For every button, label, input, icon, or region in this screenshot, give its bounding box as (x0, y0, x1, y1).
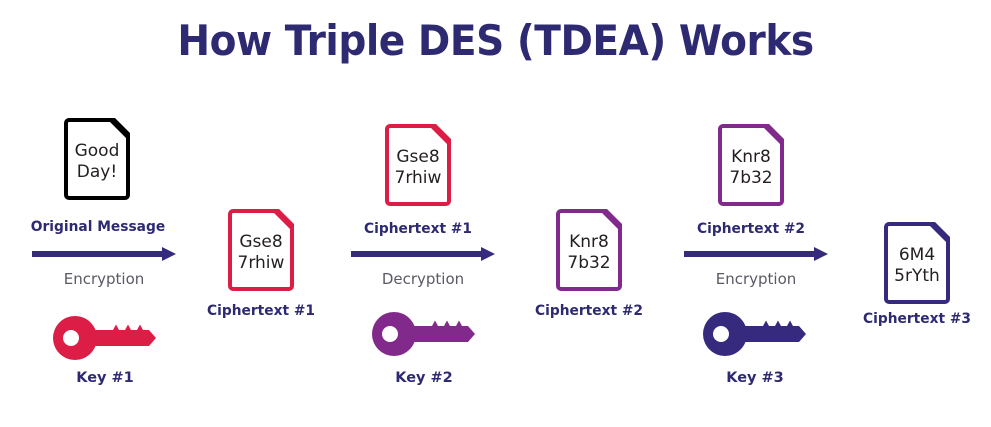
document-original-message: Good Day! (64, 118, 130, 200)
document-content: Gse8 7rhiw (232, 227, 290, 273)
key-3-label: Key #3 (685, 370, 825, 386)
page-fold-inner-icon (115, 118, 130, 133)
arrow-encryption-2 (684, 247, 828, 261)
arrow-shaft (351, 251, 482, 257)
page-fold-inner-icon (935, 222, 950, 237)
document-content: Gse8 7rhiw (389, 142, 447, 188)
key-2-label: Key #2 (354, 370, 494, 386)
arrow-label-encryption-1: Encryption (24, 270, 184, 288)
key-3-icon (703, 312, 807, 356)
document-line-1: Gse8 (232, 232, 290, 253)
document-outline: Knr8 7b32 (718, 124, 784, 206)
document-line-2: 5rYth (888, 266, 946, 287)
key-2-icon (372, 312, 476, 356)
document-ciphertext-2-upper: Knr8 7b32 (718, 124, 784, 206)
document-ciphertext-2-lower: Knr8 7b32 (556, 209, 622, 291)
document-ciphertext-1-upper: Gse8 7rhiw (385, 124, 451, 206)
document-outline: 6M4 5rYth (884, 222, 950, 304)
document-line-1: Knr8 (722, 147, 780, 168)
arrow-shaft (684, 251, 815, 257)
document-line-2: Day! (68, 162, 126, 183)
arrow-head-icon (481, 247, 495, 261)
arrow-shaft (32, 251, 163, 257)
document-line-2: 7b32 (722, 168, 780, 189)
arrow-head-icon (814, 247, 828, 261)
document-content: 6M4 5rYth (888, 240, 946, 286)
caption-original-message: Original Message (5, 219, 191, 235)
document-ciphertext-3: 6M4 5rYth (884, 222, 950, 304)
key-3-glyph (703, 312, 806, 356)
key-2-glyph (372, 312, 475, 356)
document-content: Good Day! (68, 136, 126, 182)
arrow-label-decryption: Decryption (343, 270, 503, 288)
key-1-label: Key #1 (35, 370, 175, 386)
diagram-canvas: How Triple DES (TDEA) Works Good Day! Or… (0, 0, 991, 427)
document-line-2: 7rhiw (232, 253, 290, 274)
key-1-icon (53, 316, 157, 360)
document-line-2: 7b32 (560, 253, 618, 274)
document-line-1: Gse8 (389, 147, 447, 168)
page-fold-inner-icon (279, 209, 294, 224)
document-line-1: Good (68, 141, 126, 162)
page-fold-inner-icon (436, 124, 451, 139)
arrow-decryption (351, 247, 495, 261)
document-content: Knr8 7b32 (722, 142, 780, 188)
document-outline: Good Day! (64, 118, 130, 200)
caption-ciphertext-2-lower: Ciphertext #2 (518, 303, 661, 319)
arrow-head-icon (162, 247, 176, 261)
page-fold-inner-icon (607, 209, 622, 224)
document-outline: Knr8 7b32 (556, 209, 622, 291)
document-line-1: Knr8 (560, 232, 618, 253)
arrow-encryption-1 (32, 247, 176, 261)
caption-ciphertext-1-lower: Ciphertext #1 (190, 303, 333, 319)
page-title: How Triple DES (TDEA) Works (35, 16, 957, 65)
document-line-2: 7rhiw (389, 168, 447, 189)
caption-ciphertext-2-upper: Ciphertext #2 (680, 221, 823, 237)
arrow-label-encryption-2: Encryption (676, 270, 836, 288)
document-ciphertext-1-lower: Gse8 7rhiw (228, 209, 294, 291)
caption-ciphertext-3: Ciphertext #3 (846, 311, 989, 327)
caption-ciphertext-1-upper: Ciphertext #1 (347, 221, 490, 237)
document-line-1: 6M4 (888, 245, 946, 266)
document-outline: Gse8 7rhiw (228, 209, 294, 291)
document-content: Knr8 7b32 (560, 227, 618, 273)
key-1-glyph (53, 316, 156, 360)
page-fold-inner-icon (769, 124, 784, 139)
document-outline: Gse8 7rhiw (385, 124, 451, 206)
